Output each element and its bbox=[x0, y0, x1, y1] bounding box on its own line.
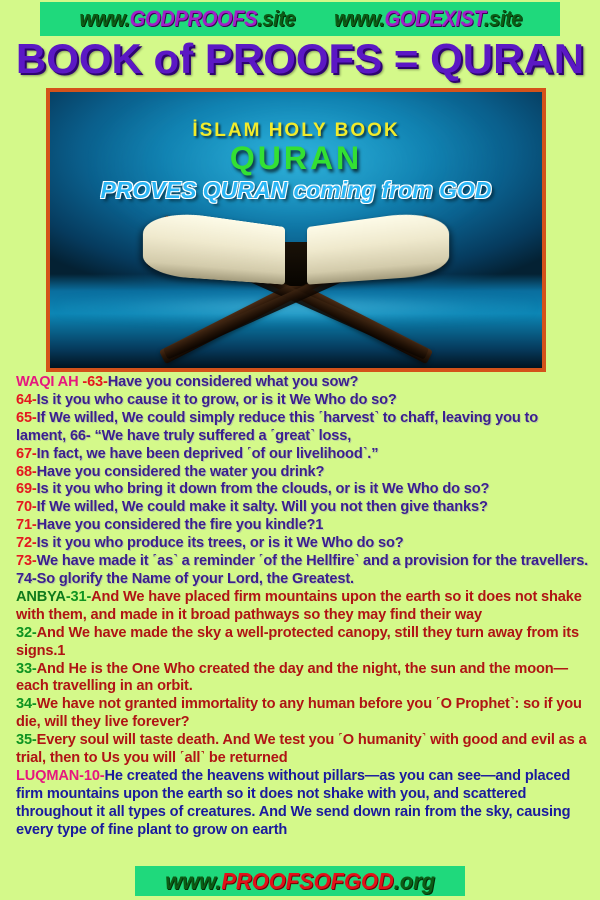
photo-caption-title: QURAN bbox=[50, 140, 542, 177]
verse-text: Have you considered what you sow? bbox=[108, 374, 359, 390]
verse-line: ANBYA-31-And We have placed firm mountai… bbox=[16, 589, 590, 625]
verse-line: 70-If We willed, We could make it salty.… bbox=[16, 499, 590, 517]
surah-name: LUQMAN bbox=[16, 768, 79, 784]
url-prefix: www. bbox=[165, 868, 221, 894]
verse-text: Is it you who cause it to grow, or is it… bbox=[37, 392, 397, 408]
verse-number: 70- bbox=[16, 499, 37, 515]
book-page-left bbox=[143, 207, 285, 284]
url-tld: .site bbox=[257, 6, 295, 31]
verse-number: 65- bbox=[16, 410, 37, 426]
footer-url-banner: www.PROOFSOFGOD.org bbox=[135, 866, 465, 896]
verse-line: 35-Every soul will taste death. And We t… bbox=[16, 732, 590, 768]
quran-rehal-stand bbox=[131, 220, 461, 370]
verse-text: Is it you who bring it down from the clo… bbox=[37, 481, 490, 497]
verse-line: 34-We have not granted immortality to an… bbox=[16, 696, 590, 732]
verse-number: 69- bbox=[16, 481, 37, 497]
url-domain-name: PROOFSOFGOD bbox=[221, 868, 393, 894]
verse-number: 35- bbox=[16, 732, 37, 748]
open-quran-book bbox=[146, 212, 446, 288]
poster-page: { "page": { "background_color": "#d4f98a… bbox=[0, 0, 600, 900]
url-tld: .org bbox=[394, 868, 435, 894]
surah-name: ANBYA bbox=[16, 589, 66, 605]
verse-line: 67-In fact, we have been deprived ˹of ou… bbox=[16, 446, 590, 464]
verse-text: In fact, we have been deprived ˹of our l… bbox=[37, 446, 379, 462]
verse-text: And He is the One Who created the day an… bbox=[16, 661, 568, 695]
verse-line: WAQI AH -63-Have you considered what you… bbox=[16, 374, 590, 392]
url-prefix: www. bbox=[79, 6, 129, 31]
verse-line: 68-Have you considered the water you dri… bbox=[16, 464, 590, 482]
scripture-body: WAQI AH -63-Have you considered what you… bbox=[16, 374, 590, 840]
site-url-proofsofgod[interactable]: www.PROOFSOFGOD.org bbox=[165, 868, 435, 895]
photo-caption-bottom: PROVES QURAN coming from GOD bbox=[50, 177, 542, 204]
verse-line: 64-Is it you who cause it to grow, or is… bbox=[16, 392, 590, 410]
url-tld: .site bbox=[484, 6, 522, 31]
scripture-block-waqiah: WAQI AH -63-Have you considered what you… bbox=[16, 374, 590, 589]
url-domain-name: GODEXIST bbox=[385, 6, 484, 31]
verse-number: 34- bbox=[16, 696, 37, 712]
verse-line: 73-We have made it ˹as˺ a reminder ˹of t… bbox=[16, 553, 590, 589]
verse-text: Have you considered the water you drink? bbox=[37, 464, 325, 480]
verse-number: -31- bbox=[66, 589, 91, 605]
verse-number: 67- bbox=[16, 446, 37, 462]
verse-text: We have not granted immortality to any h… bbox=[16, 696, 582, 730]
verse-line: LUQMAN-10-He created the heavens without… bbox=[16, 768, 590, 840]
verse-number: 64- bbox=[16, 392, 37, 408]
photo-caption-top: İSLAM HOLY BOOK bbox=[50, 120, 542, 142]
verse-text: Every soul will taste death. And We test… bbox=[16, 732, 586, 766]
book-spine bbox=[285, 242, 307, 286]
verse-line: 65-If We willed, We could simply reduce … bbox=[16, 410, 590, 446]
verse-text: And We have placed firm mountains upon t… bbox=[16, 589, 582, 623]
verse-number: 32- bbox=[16, 625, 37, 641]
quran-photo: İSLAM HOLY BOOK QURAN PROVES QURAN comin… bbox=[46, 88, 546, 372]
verse-number: 72- bbox=[16, 535, 37, 551]
scripture-block-luqman: LUQMAN-10-He created the heavens without… bbox=[16, 768, 590, 840]
site-url-godproofs[interactable]: www.GODPROOFS.site bbox=[79, 6, 295, 32]
verse-number: 68- bbox=[16, 464, 37, 480]
verse-number: 33- bbox=[16, 661, 37, 677]
verse-number: -63- bbox=[82, 374, 107, 390]
url-domain-name: GODPROOFS bbox=[129, 6, 256, 31]
verse-line: 33-And He is the One Who created the day… bbox=[16, 661, 590, 697]
top-url-banner: www.GODPROOFS.site www.GODEXIST.site bbox=[40, 2, 560, 36]
verse-text: If We willed, We could simply reduce thi… bbox=[16, 410, 538, 444]
verse-line: 69-Is it you who bring it down from the … bbox=[16, 481, 590, 499]
page-title: BOOK of PROOFS = QURAN bbox=[0, 36, 600, 82]
verse-text: Is it you who produce its trees, or is i… bbox=[37, 535, 404, 551]
site-url-godexist[interactable]: www.GODEXIST.site bbox=[334, 6, 522, 32]
scripture-block-anbya: ANBYA-31-And We have placed firm mountai… bbox=[16, 589, 590, 768]
verse-number: 71- bbox=[16, 517, 37, 533]
verse-line: 71-Have you considered the fire you kind… bbox=[16, 517, 590, 535]
verse-text: Have you considered the fire you kindle?… bbox=[37, 517, 324, 533]
verse-line: 32-And We have made the sky a well-prote… bbox=[16, 625, 590, 661]
surah-name: WAQI AH bbox=[16, 374, 82, 390]
verse-line: 72-Is it you who produce its trees, or i… bbox=[16, 535, 590, 553]
url-prefix: www. bbox=[334, 6, 384, 31]
verse-number: -10- bbox=[79, 768, 104, 784]
verse-text: And We have made the sky a well-protecte… bbox=[16, 625, 579, 659]
verse-text: We have made it ˹as˺ a reminder ˹of the … bbox=[16, 553, 588, 587]
book-page-right bbox=[307, 207, 449, 284]
verse-text: If We willed, We could make it salty. Wi… bbox=[37, 499, 488, 515]
verse-number: 73- bbox=[16, 553, 37, 569]
